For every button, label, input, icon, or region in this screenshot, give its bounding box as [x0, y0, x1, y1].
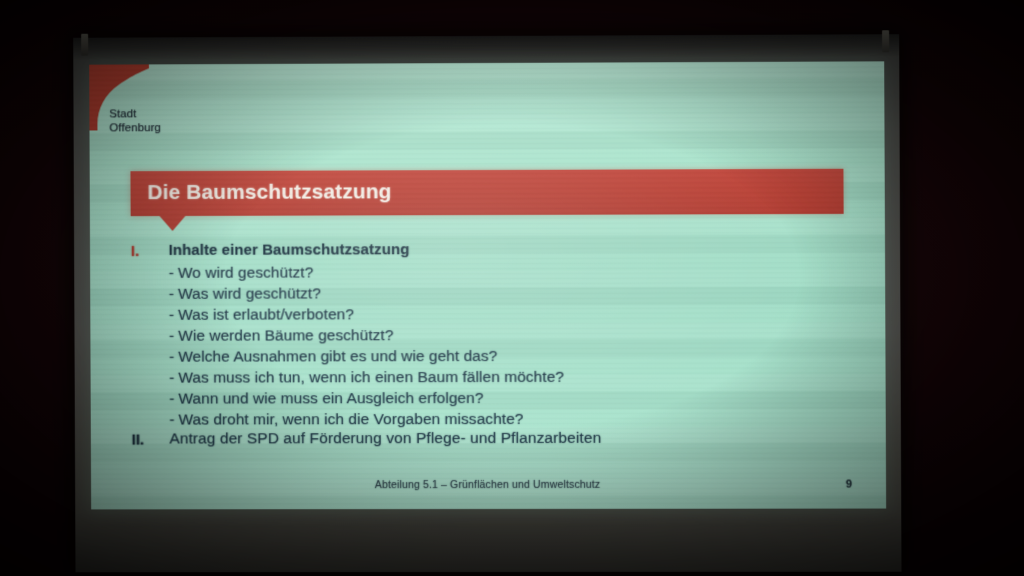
slide-footer: Abteilung 5.1 – Grünflächen und Umweltsc… — [91, 478, 886, 495]
list-item: -Welche Ausnahmen gibt es und wie geht d… — [169, 345, 865, 368]
logo-text: Stadt Offenburg — [109, 108, 161, 135]
screen-top-shadow — [73, 34, 899, 60]
section-one-header-row: I. Inhalte einer Baumschutzsatzung — [131, 240, 865, 260]
footer-department-label: Abteilung 5.1 – Grünflächen und Umweltsc… — [91, 478, 886, 491]
list-item-label: Was ist erlaubt/verboten? — [178, 306, 354, 323]
bullet-dash: - — [169, 370, 174, 387]
stadt-offenburg-logo: Stadt Offenburg — [89, 64, 175, 136]
bullet-dash: - — [169, 286, 174, 303]
screen-clip-left-icon — [81, 34, 88, 56]
section-one-bullet-list: -Wo wird geschützt? -Was wird geschützt?… — [169, 261, 866, 431]
bullet-dash: - — [169, 391, 174, 408]
list-item-label: Wo wird geschützt? — [178, 264, 313, 281]
list-item: -Was droht mir, wenn ich die Vorgaben mi… — [169, 408, 865, 430]
section-one-heading: Inhalte einer Baumschutzsatzung — [169, 241, 410, 259]
section-one: I. Inhalte einer Baumschutzsatzung -Wo w… — [131, 240, 866, 431]
bullet-dash: - — [169, 307, 174, 324]
page-title: Die Baumschutzsatzung — [147, 180, 391, 205]
list-item: -Wie werden Bäume geschützt? — [169, 324, 865, 347]
list-item-label: Welche Ausnahmen gibt es und wie geht da… — [178, 348, 497, 366]
footer-page-number: 9 — [846, 479, 852, 491]
list-item: -Was wird geschützt? — [169, 282, 865, 305]
room-scene: Stadt Offenburg Die Baumschutzsatzung I.… — [0, 0, 1024, 576]
section-two-numeral: II. — [132, 431, 170, 449]
section-two: II. Antrag der SPD auf Förderung von Pfl… — [132, 430, 602, 449]
list-item-label: Was wird geschützt? — [178, 285, 321, 302]
list-item-label: Was droht mir, wenn ich die Vorgaben mis… — [179, 411, 524, 429]
list-item: -Was ist erlaubt/verboten? — [169, 303, 865, 326]
screen-clip-right-icon — [882, 30, 889, 52]
section-two-header-row: II. Antrag der SPD auf Förderung von Pfl… — [132, 430, 602, 449]
bullet-dash: - — [169, 265, 174, 282]
section-one-numeral: I. — [131, 242, 169, 260]
list-item-label: Was muss ich tun, wenn ich einen Baum fä… — [178, 369, 564, 387]
bullet-dash: - — [169, 412, 174, 429]
title-bar-pointer-icon — [160, 216, 186, 231]
presentation-slide: Stadt Offenburg Die Baumschutzsatzung I.… — [89, 61, 886, 509]
screen-bottom-shadow — [75, 512, 901, 573]
projection-screen: Stadt Offenburg Die Baumschutzsatzung I.… — [73, 34, 901, 572]
list-item-label: Wann und wie muss ein Ausgleich erfolgen… — [178, 390, 483, 408]
list-item: -Was muss ich tun, wenn ich einen Baum f… — [169, 366, 865, 388]
slide-content: I. Inhalte einer Baumschutzsatzung -Wo w… — [131, 240, 866, 437]
list-item: -Wann und wie muss ein Ausgleich erfolge… — [169, 387, 865, 409]
bullet-dash: - — [169, 349, 174, 366]
list-item: -Wo wird geschützt? — [169, 261, 865, 284]
section-two-heading: Antrag der SPD auf Förderung von Pflege-… — [169, 430, 601, 449]
slide-title-banner: Die Baumschutzsatzung — [130, 169, 843, 216]
bullet-dash: - — [169, 328, 174, 345]
list-item-label: Wie werden Bäume geschützt? — [178, 327, 393, 344]
